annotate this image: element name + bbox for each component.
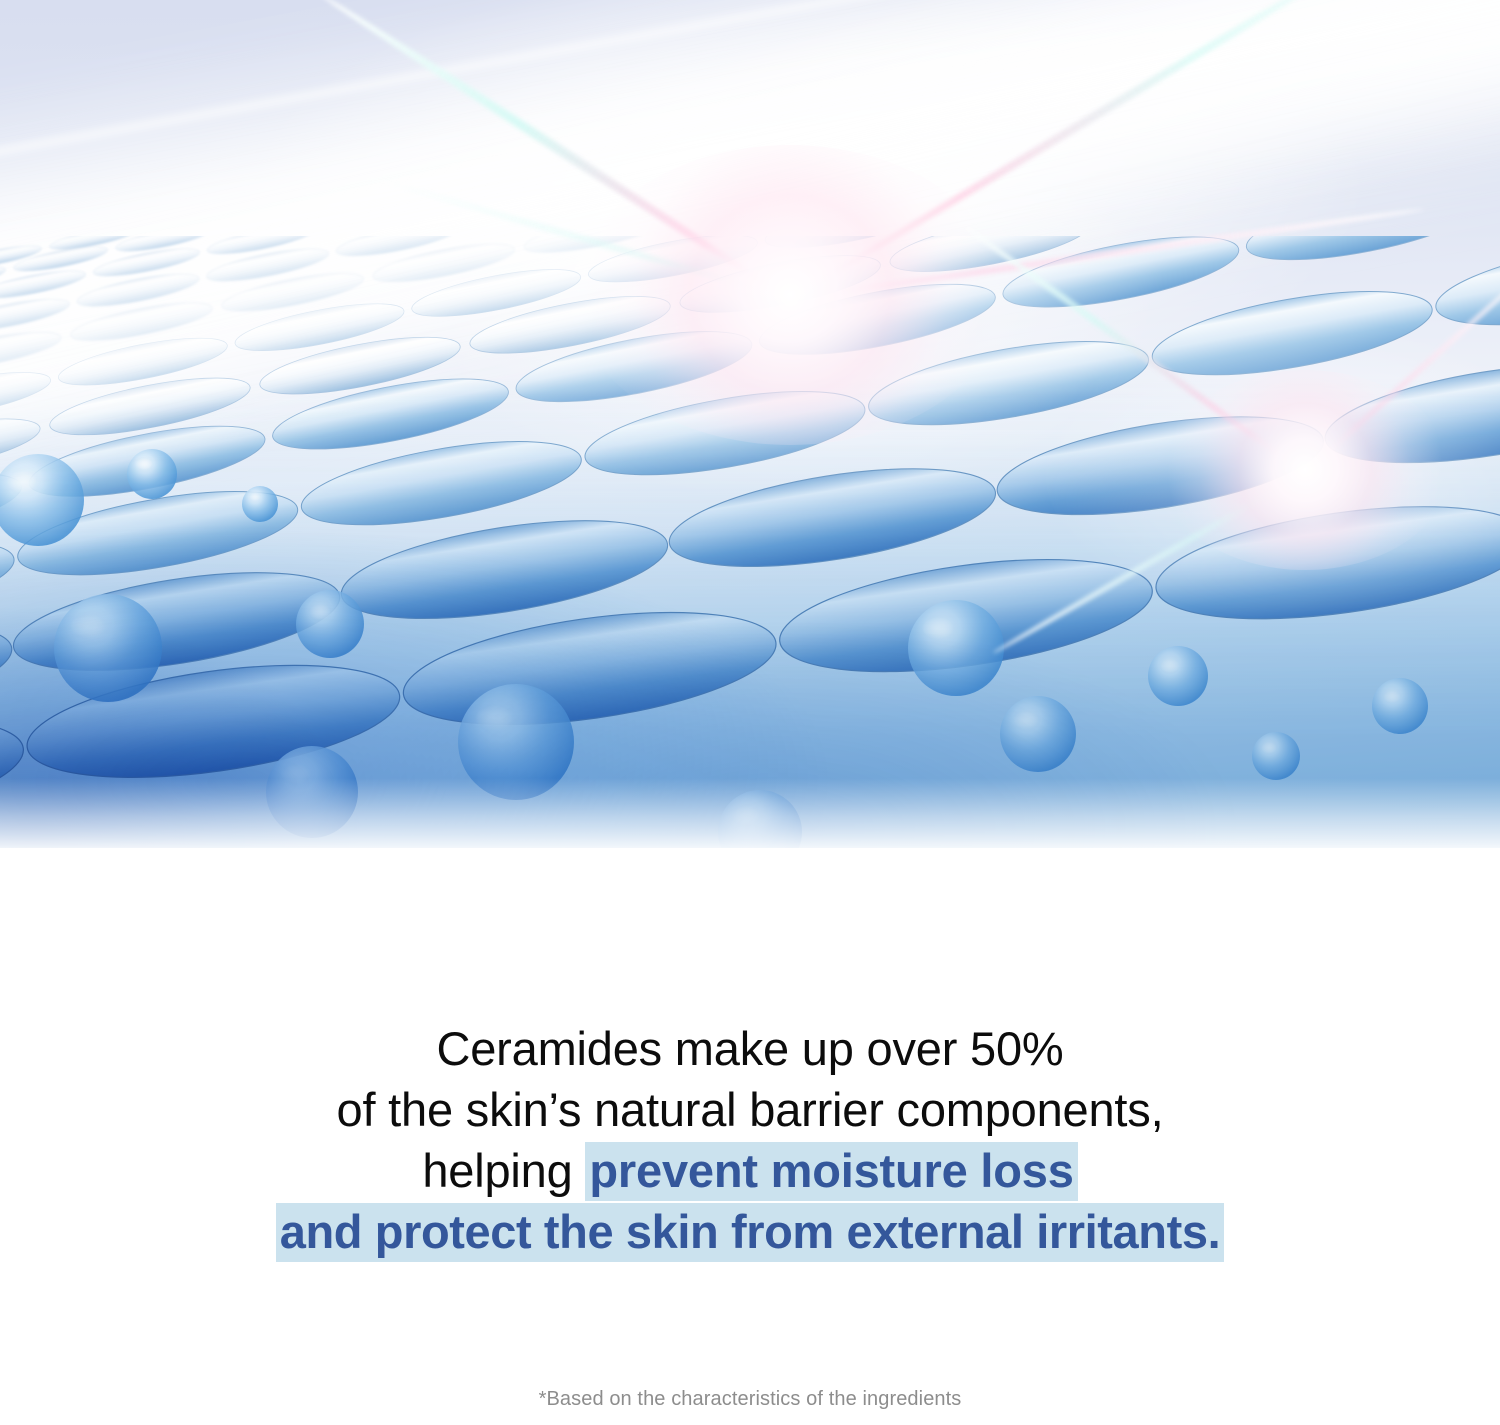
headline-highlight-1: prevent moisture loss (585, 1142, 1077, 1201)
headline-line-2: of the skin’s natural barrier components… (0, 1079, 1500, 1140)
headline-highlight-2: and protect the skin from external irrit… (276, 1203, 1225, 1262)
headline-line-1: Ceramides make up over 50% (0, 1018, 1500, 1079)
headline-line-3-plain: helping (422, 1144, 585, 1197)
image-bottom-fade (0, 778, 1500, 848)
headline-line-4: and protect the skin from external irrit… (0, 1201, 1500, 1262)
headline-line-3: helping prevent moisture loss (0, 1140, 1500, 1201)
headline-block: Ceramides make up over 50% of the skin’s… (0, 1018, 1500, 1262)
footnote: *Based on the characteristics of the ing… (0, 1388, 1500, 1411)
hero-image (0, 0, 1500, 848)
